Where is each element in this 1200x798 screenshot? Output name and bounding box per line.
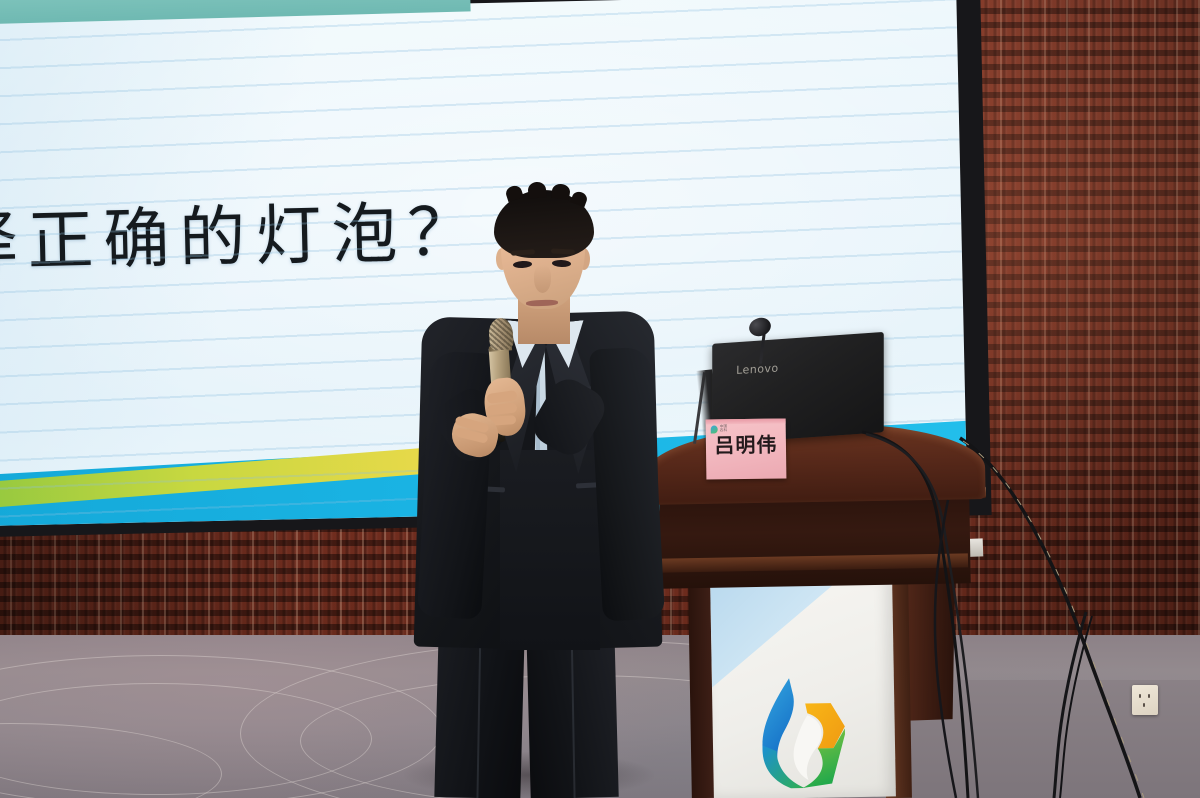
nose <box>534 265 551 293</box>
outlet-slot <box>1143 703 1145 707</box>
outlet-slot <box>1148 694 1150 698</box>
wall-power-outlet[interactable] <box>1132 685 1158 715</box>
cable-power <box>862 432 968 798</box>
cable-audio <box>866 434 978 798</box>
suit-jacket-center <box>500 450 600 650</box>
hair-spike <box>527 181 547 199</box>
cable-diagonal <box>960 438 1140 798</box>
photo-scene: 择正确的灯泡？ 农业科 <box>0 0 1200 798</box>
outlet-slot <box>1139 694 1141 698</box>
cable-stripe <box>963 441 1144 798</box>
